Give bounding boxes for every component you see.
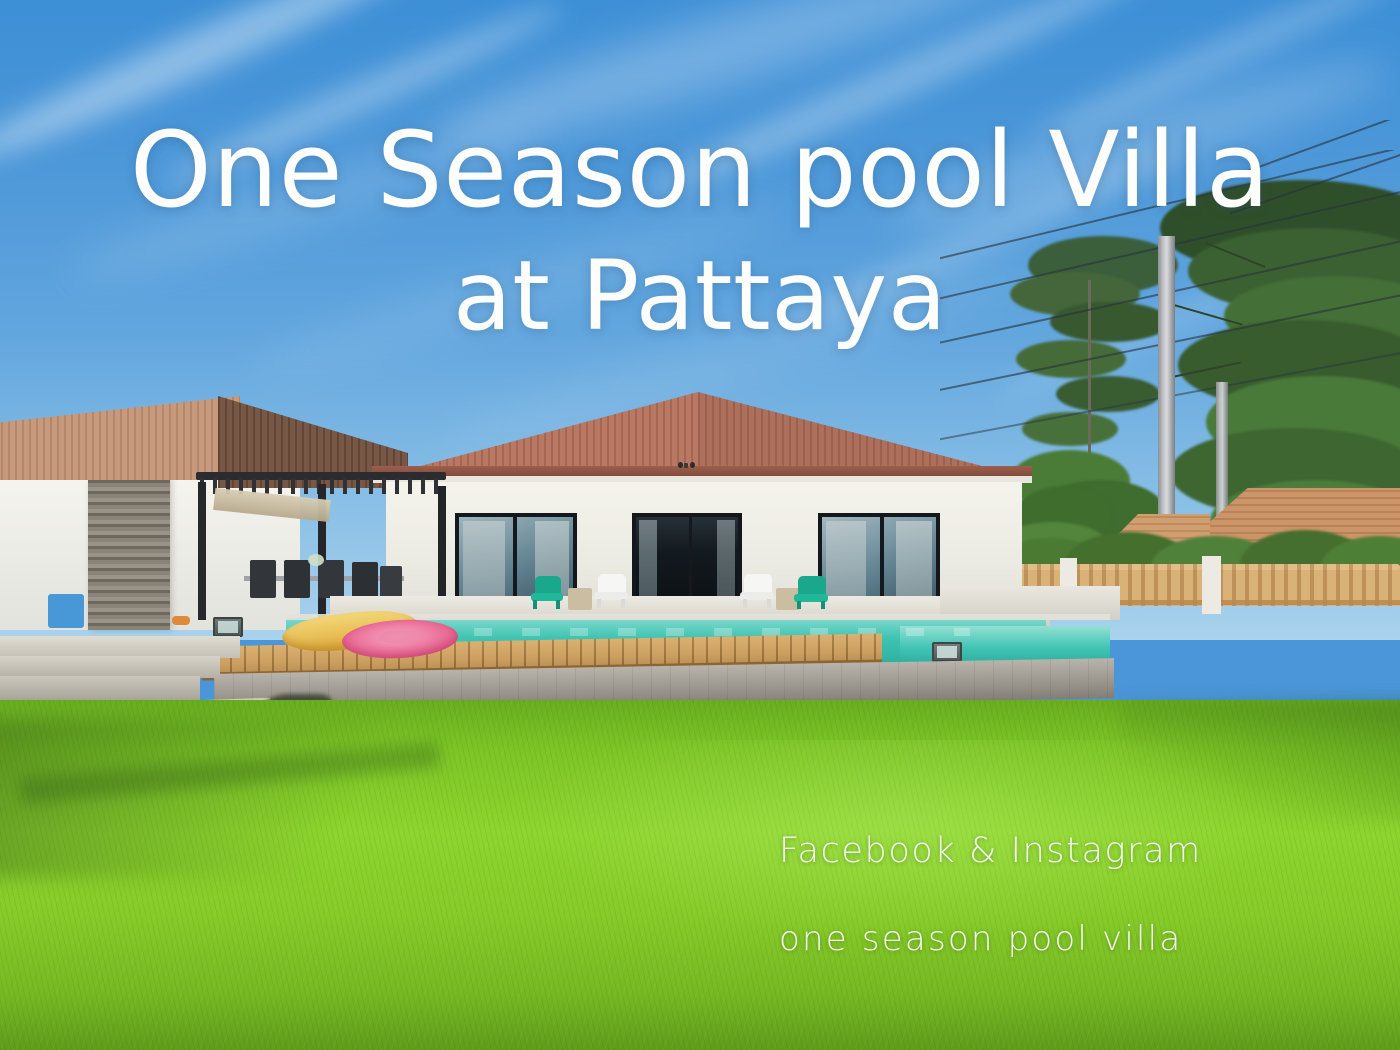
patio-chair-white-right	[740, 574, 774, 608]
blue-object	[48, 594, 84, 628]
credit-line-handle: one season pool villa	[779, 919, 1182, 959]
title-line-2: at Pattaya	[0, 248, 1400, 344]
terrace-step-upper	[0, 636, 240, 658]
terrace-step-lower	[0, 676, 200, 700]
wall-fixture-icon	[678, 462, 695, 469]
title-line-1: One Season pool Villa	[0, 118, 1400, 222]
patio-chair-green-left	[531, 576, 563, 608]
pink-pool-ring-hole	[378, 630, 422, 644]
page-title: One Season pool Villa at Pattaya	[0, 118, 1400, 344]
lawn-shadow-right	[1120, 700, 1400, 820]
promo-image-canvas: One Season pool Villa at Pattaya Faceboo…	[0, 0, 1400, 1050]
patio-chair-green-right	[794, 576, 828, 609]
side-table-left	[568, 588, 592, 610]
stone-feature-panel	[88, 478, 170, 630]
orange-object	[172, 616, 190, 625]
credit-line-social: Facebook & Instagram	[779, 831, 1202, 871]
terrace-step-mid	[0, 656, 220, 678]
patio-chair-white-left	[594, 574, 628, 608]
